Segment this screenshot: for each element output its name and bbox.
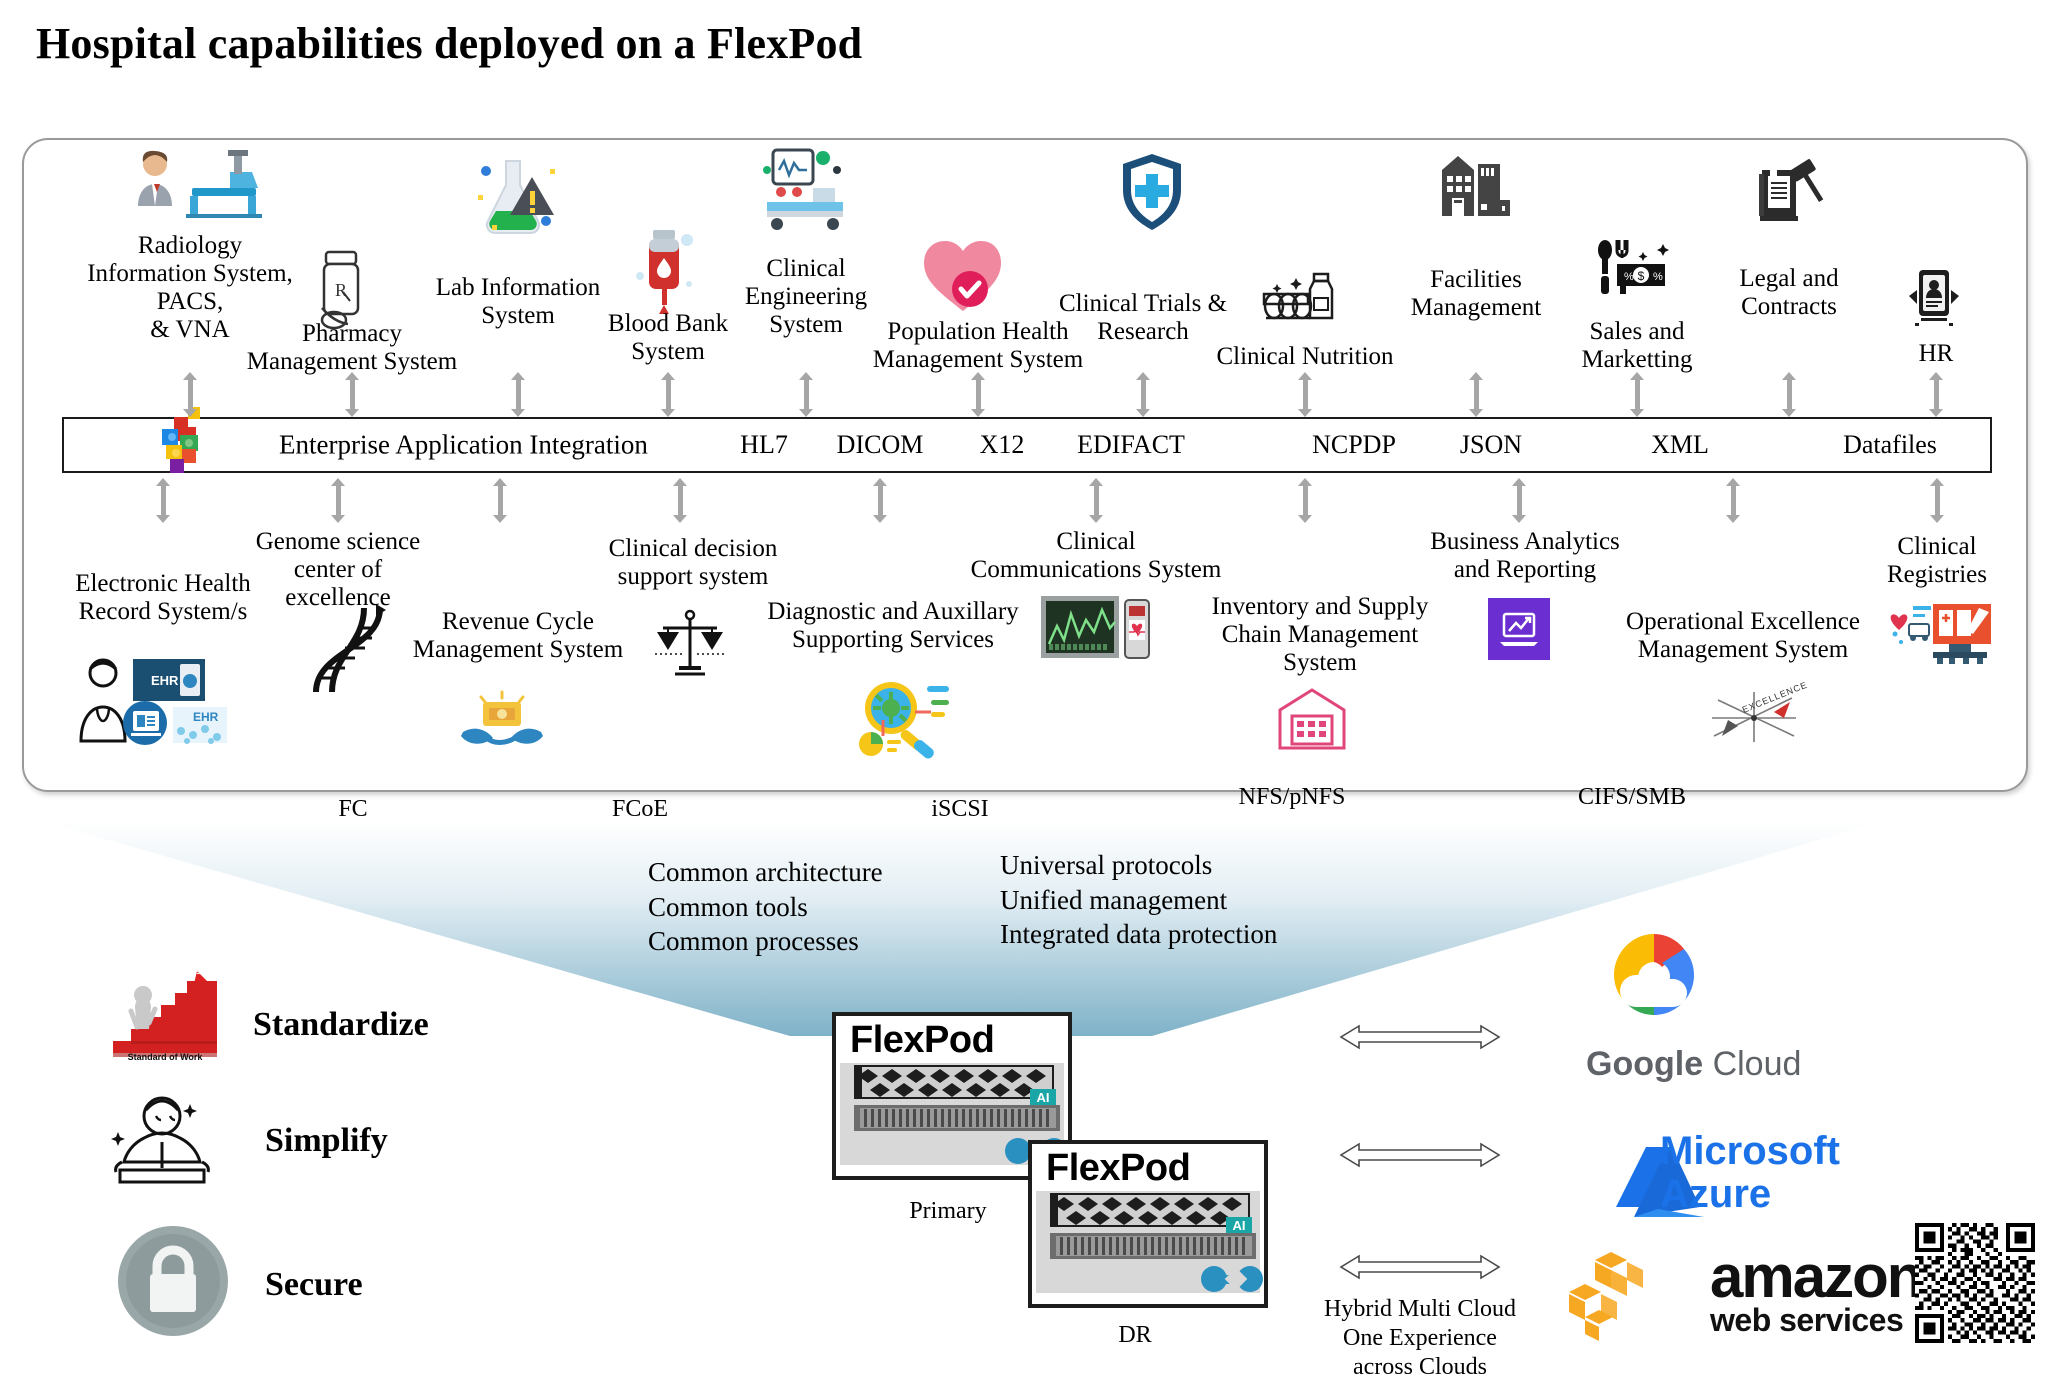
arrow-head-down	[1726, 515, 1740, 523]
arrow-head-down	[1930, 515, 1944, 523]
capability-label-line: Clinical	[1887, 533, 1987, 561]
capability-label-line: Legal and	[1739, 265, 1838, 293]
arrow-head-down	[661, 409, 675, 417]
arrow-head-down	[971, 409, 985, 417]
capability-label-operational-excellence: Operational ExcellenceManagement System	[1626, 608, 1860, 664]
capability-label-line: Research	[1059, 318, 1227, 346]
capability-label-line: Inventory and Supply	[1212, 593, 1429, 621]
capability-label-revenue-cycle: Revenue CycleManagement System	[413, 608, 623, 664]
arrow-shaft	[1935, 485, 1940, 516]
capability-label-line: Marketting	[1581, 346, 1692, 374]
capability-label-line: Engineering	[745, 283, 867, 311]
arrow-head-down	[873, 515, 887, 523]
capability-label-line: Diagnostic and Auxillary	[767, 598, 1018, 626]
capability-label-diagnostic-and-auxillary: Diagnostic and AuxillarySupporting Servi…	[767, 598, 1018, 654]
arrow-head-down	[673, 515, 687, 523]
connector-arrow-top-hr	[1929, 372, 1943, 417]
capability-label-clinical-decision: Clinical decisionsupport system	[609, 535, 778, 591]
arrow-shaft	[1474, 379, 1479, 410]
connector-arrow-top-blood-bank	[661, 372, 675, 417]
arrow-head-down	[183, 409, 197, 417]
arrow-shaft	[666, 379, 671, 410]
capability-label-line: Operational Excellence	[1626, 608, 1860, 636]
capability-label-line: Clinical Nutrition	[1216, 343, 1393, 371]
capability-label-lab-information: Lab InformationSystem	[436, 274, 601, 330]
capability-label-line: System	[1212, 649, 1429, 677]
connector-arrow-top-sales-and	[1630, 372, 1644, 417]
connector-arrow-top-legal-and	[1782, 372, 1796, 417]
protocol-label-cifs-smb: CIFS/SMB	[1578, 784, 1686, 811]
capability-label-clinical: ClinicalCommunications System	[971, 528, 1222, 584]
capability-label-clinical: ClinicalRegistries	[1887, 533, 1987, 589]
arrow-head-down	[1782, 409, 1796, 417]
capability-label-hr: HR	[1919, 340, 1954, 368]
arrow-head-down	[1929, 409, 1943, 417]
connector-arrow-bottom-clinical-decision	[673, 478, 687, 523]
capability-label-blood-bank: Blood BankSystem	[608, 310, 728, 366]
connector-arrow-bottom-clinical	[1089, 478, 1103, 523]
capability-label-line: Sales and	[1581, 318, 1692, 346]
connector-arrow-top-facilities	[1469, 372, 1483, 417]
capability-label-line: Revenue Cycle	[413, 608, 623, 636]
arrow-shaft	[976, 379, 981, 410]
capability-label-line: Business Analytics	[1430, 528, 1620, 556]
protocol-label-nfs-pnfs: NFS/pNFS	[1239, 784, 1346, 811]
capability-label-line: System	[608, 338, 728, 366]
arrow-head-down	[1298, 515, 1312, 523]
arrow-shaft	[678, 485, 683, 516]
connector-arrow-top-population-health	[971, 372, 985, 417]
capability-label-line: Management	[1411, 294, 1542, 322]
connector-arrow-top-clinical	[799, 372, 813, 417]
capability-label-line: Information System,	[87, 260, 293, 288]
capability-label-line: Chain Management	[1212, 621, 1429, 649]
connector-arrow-bottom-business-analytics	[1512, 478, 1526, 523]
arrow-head-down	[1630, 409, 1644, 417]
capability-label-line: Genome science	[256, 528, 421, 556]
capability-label-line: Clinical Trials &	[1059, 290, 1227, 318]
capability-label-line: and Reporting	[1430, 556, 1620, 584]
arrow-shaft	[161, 485, 166, 516]
protocol-label-fcoe: FCoE	[612, 796, 668, 823]
arrow-head-down	[345, 409, 359, 417]
capability-label-genome-science: Genome sciencecenter ofexcellence	[256, 528, 421, 612]
connector-arrow-bottom-clinical	[1930, 478, 1944, 523]
capability-label-line: Clinical decision	[609, 535, 778, 563]
connector-arrow-bottom-genome-science	[331, 478, 345, 523]
arrow-head-down	[1512, 515, 1526, 523]
capability-label-pharmacy: PharmacyManagement System	[247, 320, 457, 376]
capability-label-clinical-nutrition: Clinical Nutrition	[1216, 343, 1393, 371]
capability-label-legal-and: Legal andContracts	[1739, 265, 1838, 321]
arrow-head-down	[511, 409, 525, 417]
capability-label-line: Facilities	[1411, 266, 1542, 294]
capability-label-line: PACS,	[87, 288, 293, 316]
capability-label-line: Contracts	[1739, 293, 1838, 321]
capability-label-sales-and: Sales andMarketting	[1581, 318, 1692, 374]
arrow-shaft	[1303, 485, 1308, 516]
capability-label-population-health: Population HealthManagement System	[873, 318, 1083, 374]
arrow-head-down	[1298, 409, 1312, 417]
capability-label-line: Record System/s	[75, 598, 251, 626]
arrow-head-down	[1469, 409, 1483, 417]
arrow-shaft	[1517, 485, 1522, 516]
arrow-head-down	[493, 515, 507, 523]
connector-arrow-top-radiology	[183, 372, 197, 417]
capability-label-line: Communications System	[971, 556, 1222, 584]
arrow-head-down	[331, 515, 345, 523]
arrow-shaft	[350, 379, 355, 410]
arrow-head-down	[799, 409, 813, 417]
connector-arrow-top-pharmacy	[345, 372, 359, 417]
capability-label-line: Electronic Health	[75, 570, 251, 598]
capability-label-line: Blood Bank	[608, 310, 728, 338]
capability-label-line: center of	[256, 556, 421, 584]
arrow-shaft	[1094, 485, 1099, 516]
connector-arrow-top-clinical-trials	[1136, 372, 1150, 417]
capability-label-line: Population Health	[873, 318, 1083, 346]
capability-label-line: Management System	[873, 346, 1083, 374]
arrow-shaft	[498, 485, 503, 516]
capability-label-line: excellence	[256, 584, 421, 612]
capability-label-line: Management System	[1626, 636, 1860, 664]
protocol-label-fc: FC	[338, 796, 367, 823]
connector-arrow-top-clinical-nutrition	[1298, 372, 1312, 417]
capability-label-line: System	[436, 302, 601, 330]
arrow-shaft	[188, 379, 193, 410]
arrow-shaft	[1731, 485, 1736, 516]
arrow-head-down	[156, 515, 170, 523]
capability-label-line: Registries	[1887, 561, 1987, 589]
capability-label-line: support system	[609, 563, 778, 591]
arrow-shaft	[336, 485, 341, 516]
capability-label-line: Pharmacy	[247, 320, 457, 348]
capability-label-line: Clinical	[971, 528, 1222, 556]
arrow-shaft	[516, 379, 521, 410]
arrow-shaft	[1934, 379, 1939, 410]
connector-arrow-bottom-revenue-cycle	[493, 478, 507, 523]
protocol-label-iscsi: iSCSI	[931, 796, 988, 823]
arrow-shaft	[878, 485, 883, 516]
capability-label-line: System	[745, 311, 867, 339]
arrow-head-down	[1089, 515, 1103, 523]
capability-labels-layer: RadiologyInformation System,PACS,& VNAPh…	[0, 0, 2048, 1368]
capability-label-line: Radiology	[87, 232, 293, 260]
capability-label-clinical-trials: Clinical Trials &Research	[1059, 290, 1227, 346]
arrow-shaft	[1303, 379, 1308, 410]
capability-label-line: HR	[1919, 340, 1954, 368]
connector-arrow-bottom-electronic-health	[156, 478, 170, 523]
capability-label-clinical: ClinicalEngineeringSystem	[745, 255, 867, 339]
capability-label-electronic-health: Electronic HealthRecord System/s	[75, 570, 251, 626]
arrow-shaft	[1635, 379, 1640, 410]
arrow-shaft	[1141, 379, 1146, 410]
capability-label-line: Clinical	[745, 255, 867, 283]
arrow-shaft	[1787, 379, 1792, 410]
connector-arrow-top-lab-information	[511, 372, 525, 417]
capability-label-inventory-and-supply: Inventory and SupplyChain ManagementSyst…	[1212, 593, 1429, 677]
arrow-shaft	[804, 379, 809, 410]
capability-label-business-analytics: Business Analyticsand Reporting	[1430, 528, 1620, 584]
capability-label-line: Lab Information	[436, 274, 601, 302]
arrow-head-down	[1136, 409, 1150, 417]
capability-label-facilities: FacilitiesManagement	[1411, 266, 1542, 322]
connector-arrow-bottom-operational-excellence	[1726, 478, 1740, 523]
capability-label-line: Supporting Services	[767, 626, 1018, 654]
capability-label-line: Management System	[413, 636, 623, 664]
connector-arrow-bottom-diagnostic-and-auxillary	[873, 478, 887, 523]
connector-arrow-bottom-inventory-and-supply	[1298, 478, 1312, 523]
